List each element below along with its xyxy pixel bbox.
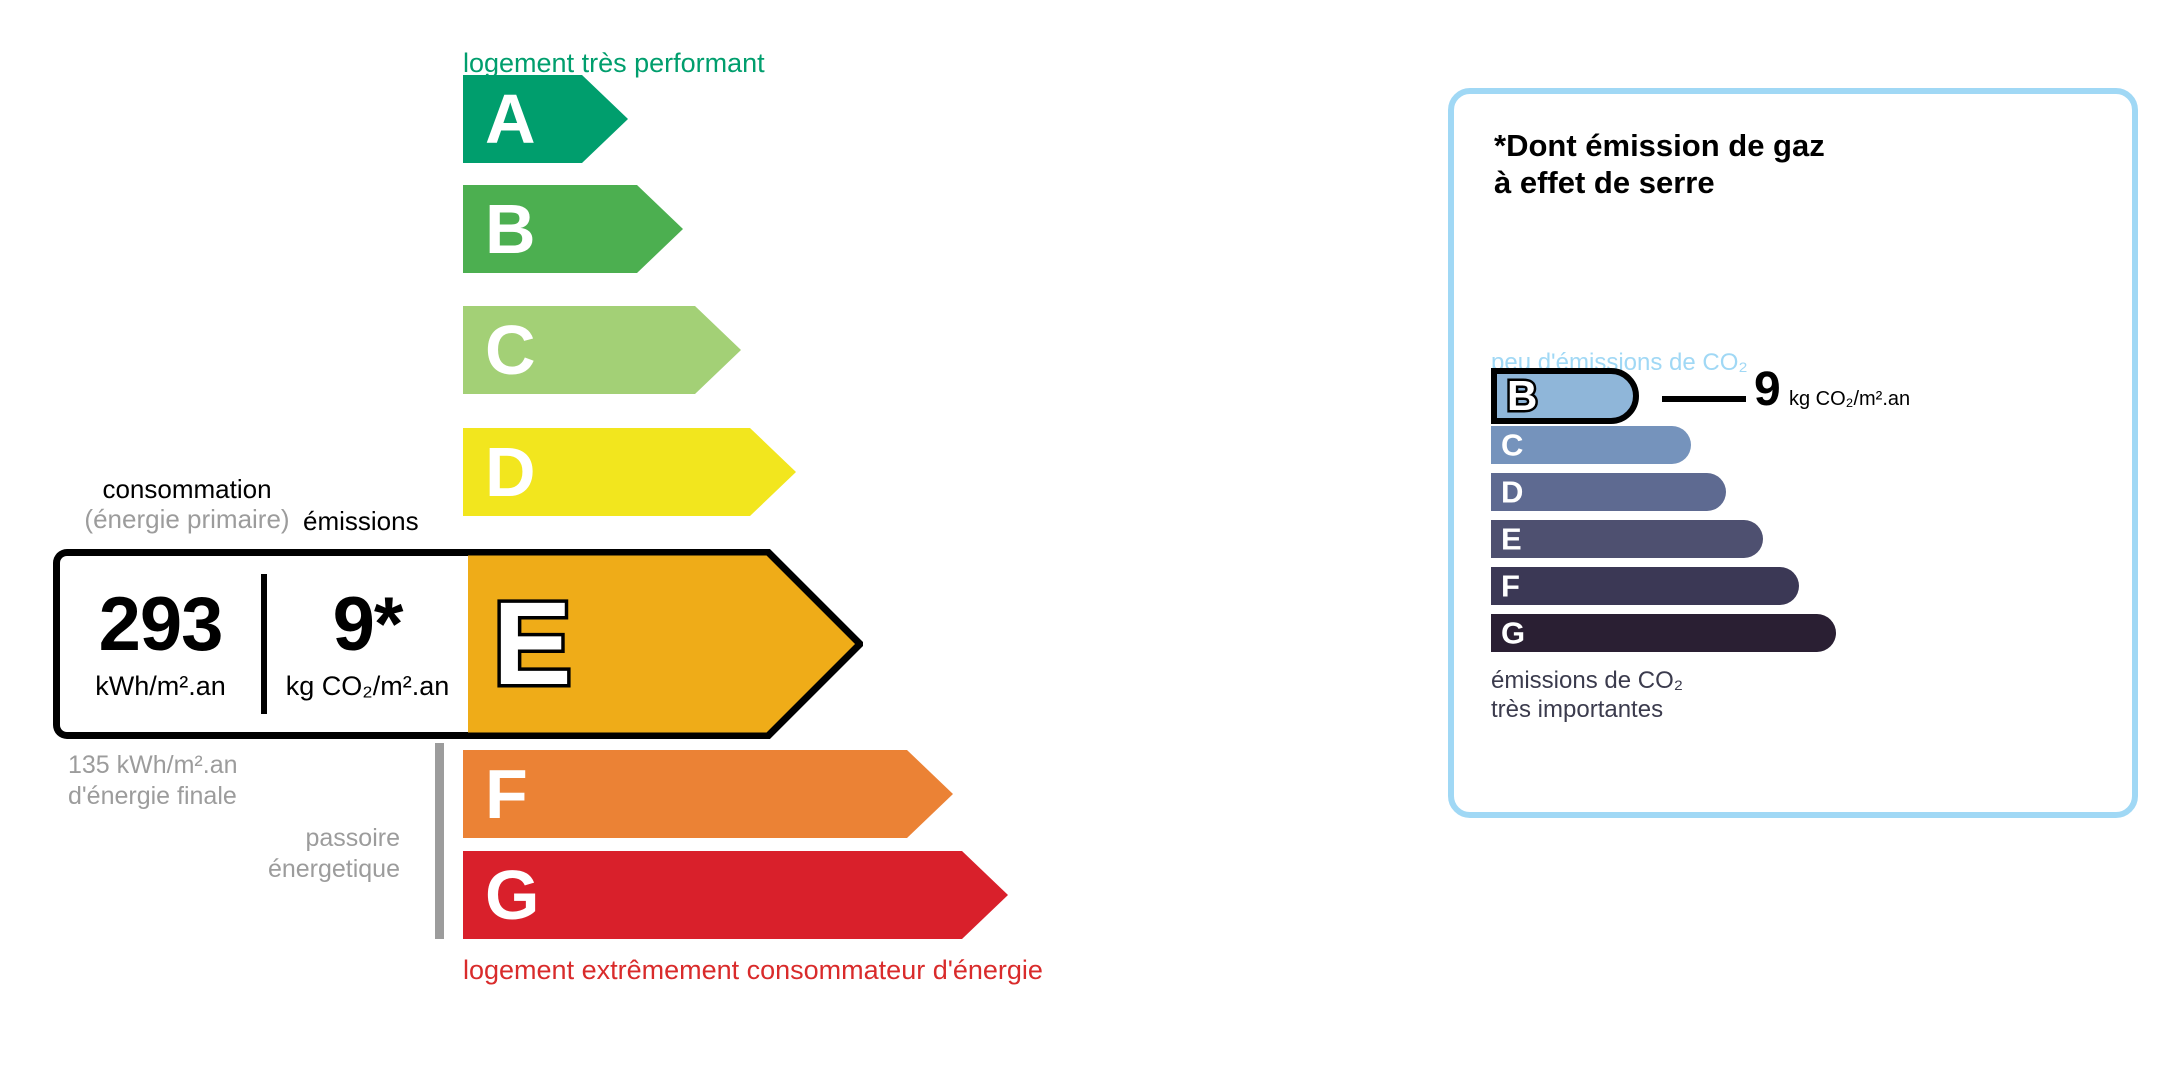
energy-sieve-bracket xyxy=(435,743,444,939)
consumption-label-main: consommation xyxy=(102,474,271,504)
co2-caption-bottom-line2: très importantes xyxy=(1491,695,1683,724)
energy-arrow-d: D xyxy=(463,428,796,516)
co2-leader-line xyxy=(1662,396,1746,402)
consumption-label: consommation (énergie primaire) xyxy=(62,475,312,535)
energy-value: 293 xyxy=(99,587,223,663)
final-energy-note-line1: 135 kWh/m².an xyxy=(68,750,238,781)
energy-value-cell: 293 kWh/m².an xyxy=(60,556,261,732)
energy-grade-letter-d: D xyxy=(485,437,536,507)
co2-grade-letter-e: E xyxy=(1501,524,1522,555)
energy-grade-row-a[interactable]: A xyxy=(463,75,628,163)
co2-caption-bottom-line1: émissions de CO₂ xyxy=(1491,666,1683,695)
co2-grade-letter-c: C xyxy=(1501,430,1523,461)
emissions-label: émissions xyxy=(303,506,419,537)
co2-value: 9* xyxy=(333,587,403,663)
rating-value-box: 293 kWh/m².an 9* kg CO₂/m².an xyxy=(53,549,468,739)
co2-value-unit: kg CO₂/m².an xyxy=(286,671,450,702)
energy-grade-row-e-current[interactable]: E xyxy=(463,549,863,739)
energy-arrow-a: A xyxy=(463,75,628,163)
co2-panel-value-unit: kg CO₂/m².an xyxy=(1789,388,1910,411)
co2-caption-bottom: émissions de CO₂ très importantes xyxy=(1491,666,1683,725)
co2-grade-row-b-current[interactable]: B xyxy=(1491,368,1639,424)
energy-sieve-note: passoire énergetique xyxy=(150,823,400,884)
energy-grade-letter-g: G xyxy=(485,860,539,930)
energy-grade-row-c[interactable]: C xyxy=(463,306,741,394)
co2-panel-title-line1: *Dont émission de gaz xyxy=(1494,127,1825,164)
energy-grade-row-g[interactable]: G xyxy=(463,851,1008,939)
final-energy-note: 135 kWh/m².an d'énergie finale xyxy=(68,750,238,811)
co2-panel-title-line2: à effet de serre xyxy=(1494,164,1825,201)
energy-sieve-note-line2: énergetique xyxy=(150,854,400,885)
co2-grade-row-d[interactable]: D xyxy=(1491,473,1726,511)
energy-scale-panel: logement très performant A B C D E xyxy=(0,0,1400,1079)
energy-grade-letter-f: F xyxy=(485,759,528,829)
energy-grade-letter-c: C xyxy=(485,315,536,385)
energy-sieve-note-line1: passoire xyxy=(150,823,400,854)
co2-panel-title: *Dont émission de gaz à effet de serre xyxy=(1494,127,1825,201)
consumption-label-sub: (énergie primaire) xyxy=(62,505,312,535)
energy-arrow-e: E xyxy=(463,549,863,739)
energy-grade-row-d[interactable]: D xyxy=(463,428,796,516)
co2-grade-letter-f: F xyxy=(1501,571,1520,602)
energy-value-unit: kWh/m².an xyxy=(95,671,226,702)
energy-arrow-g: G xyxy=(463,851,1008,939)
energy-grade-letter-e: E xyxy=(493,585,572,703)
energy-grade-row-b[interactable]: B xyxy=(463,185,683,273)
co2-grade-letter-b: B xyxy=(1507,375,1537,417)
co2-panel-value: 9 xyxy=(1754,366,1781,414)
co2-grade-letter-g: G xyxy=(1501,618,1525,649)
energy-grade-letter-b: B xyxy=(485,194,536,264)
energy-arrow-b: B xyxy=(463,185,683,273)
co2-grade-row-f[interactable]: F xyxy=(1491,567,1799,605)
co2-grade-row-c[interactable]: C xyxy=(1491,426,1691,464)
energy-arrow-f: F xyxy=(463,750,953,838)
co2-grade-letter-d: D xyxy=(1501,477,1523,508)
energy-arrow-c: C xyxy=(463,306,741,394)
scale-caption-bottom: logement extrêmement consommateur d'éner… xyxy=(463,955,1043,986)
co2-panel: *Dont émission de gaz à effet de serre p… xyxy=(1448,88,2138,818)
energy-grade-row-f[interactable]: F xyxy=(463,750,953,838)
energy-grade-letter-a: A xyxy=(485,84,536,154)
co2-grade-row-e[interactable]: E xyxy=(1491,520,1763,558)
final-energy-note-line2: d'énergie finale xyxy=(68,781,238,812)
co2-grade-row-g[interactable]: G xyxy=(1491,614,1836,652)
co2-value-cell: 9* kg CO₂/m².an xyxy=(261,574,468,714)
